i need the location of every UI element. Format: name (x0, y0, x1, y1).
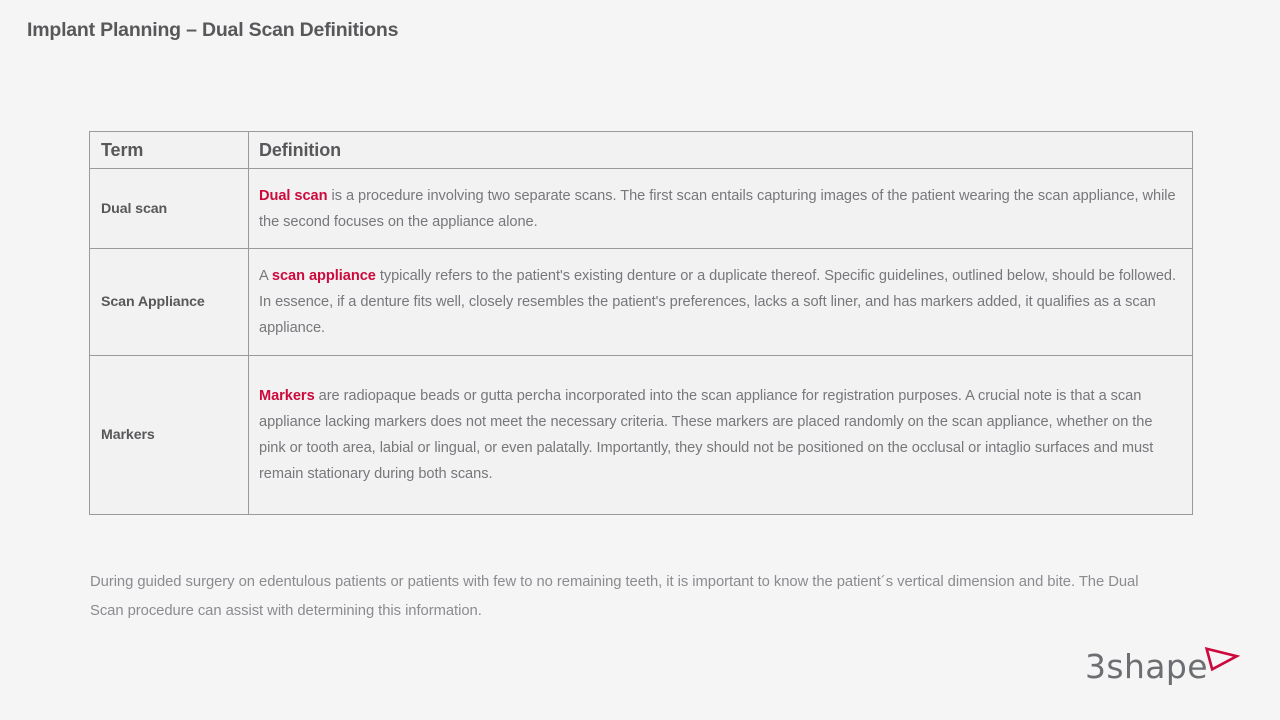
column-header-definition: Definition (249, 132, 1193, 169)
definitions-table: Term Definition Dual scan Dual scan is a… (89, 131, 1193, 515)
term-dual-scan: Dual scan (90, 169, 249, 249)
definition-body: are radiopaque beads or gutta percha inc… (259, 388, 1153, 482)
term-markers: Markers (90, 356, 249, 515)
logo-wordmark: 3shape (1085, 647, 1208, 686)
footer-note: During guided surgery on edentulous pati… (90, 568, 1160, 626)
definition-body: typically refers to the patient's existi… (259, 268, 1176, 336)
definition-highlight: scan appliance (272, 268, 376, 284)
definition-highlight: Dual scan (259, 188, 328, 204)
definition-dual-scan: Dual scan is a procedure involving two s… (249, 169, 1193, 249)
page-title: Implant Planning – Dual Scan Definitions (27, 19, 398, 42)
table-header-row: Term Definition (90, 132, 1193, 169)
definition-lead: A (259, 268, 272, 284)
table-row: Scan Appliance A scan appliance typicall… (90, 249, 1193, 356)
table-row: Dual scan Dual scan is a procedure invol… (90, 169, 1193, 249)
definition-markers: Markers are radiopaque beads or gutta pe… (249, 356, 1193, 515)
definition-body: is a procedure involving two separate sc… (259, 188, 1176, 230)
term-scan-appliance: Scan Appliance (90, 249, 249, 356)
definition-scan-appliance: A scan appliance typically refers to the… (249, 249, 1193, 356)
brand-logo: 3shape (1085, 645, 1240, 690)
triangle-play-mark-icon (1202, 643, 1242, 680)
definition-highlight: Markers (259, 388, 315, 404)
table-row: Markers Markers are radiopaque beads or … (90, 356, 1193, 515)
column-header-term: Term (90, 132, 249, 169)
